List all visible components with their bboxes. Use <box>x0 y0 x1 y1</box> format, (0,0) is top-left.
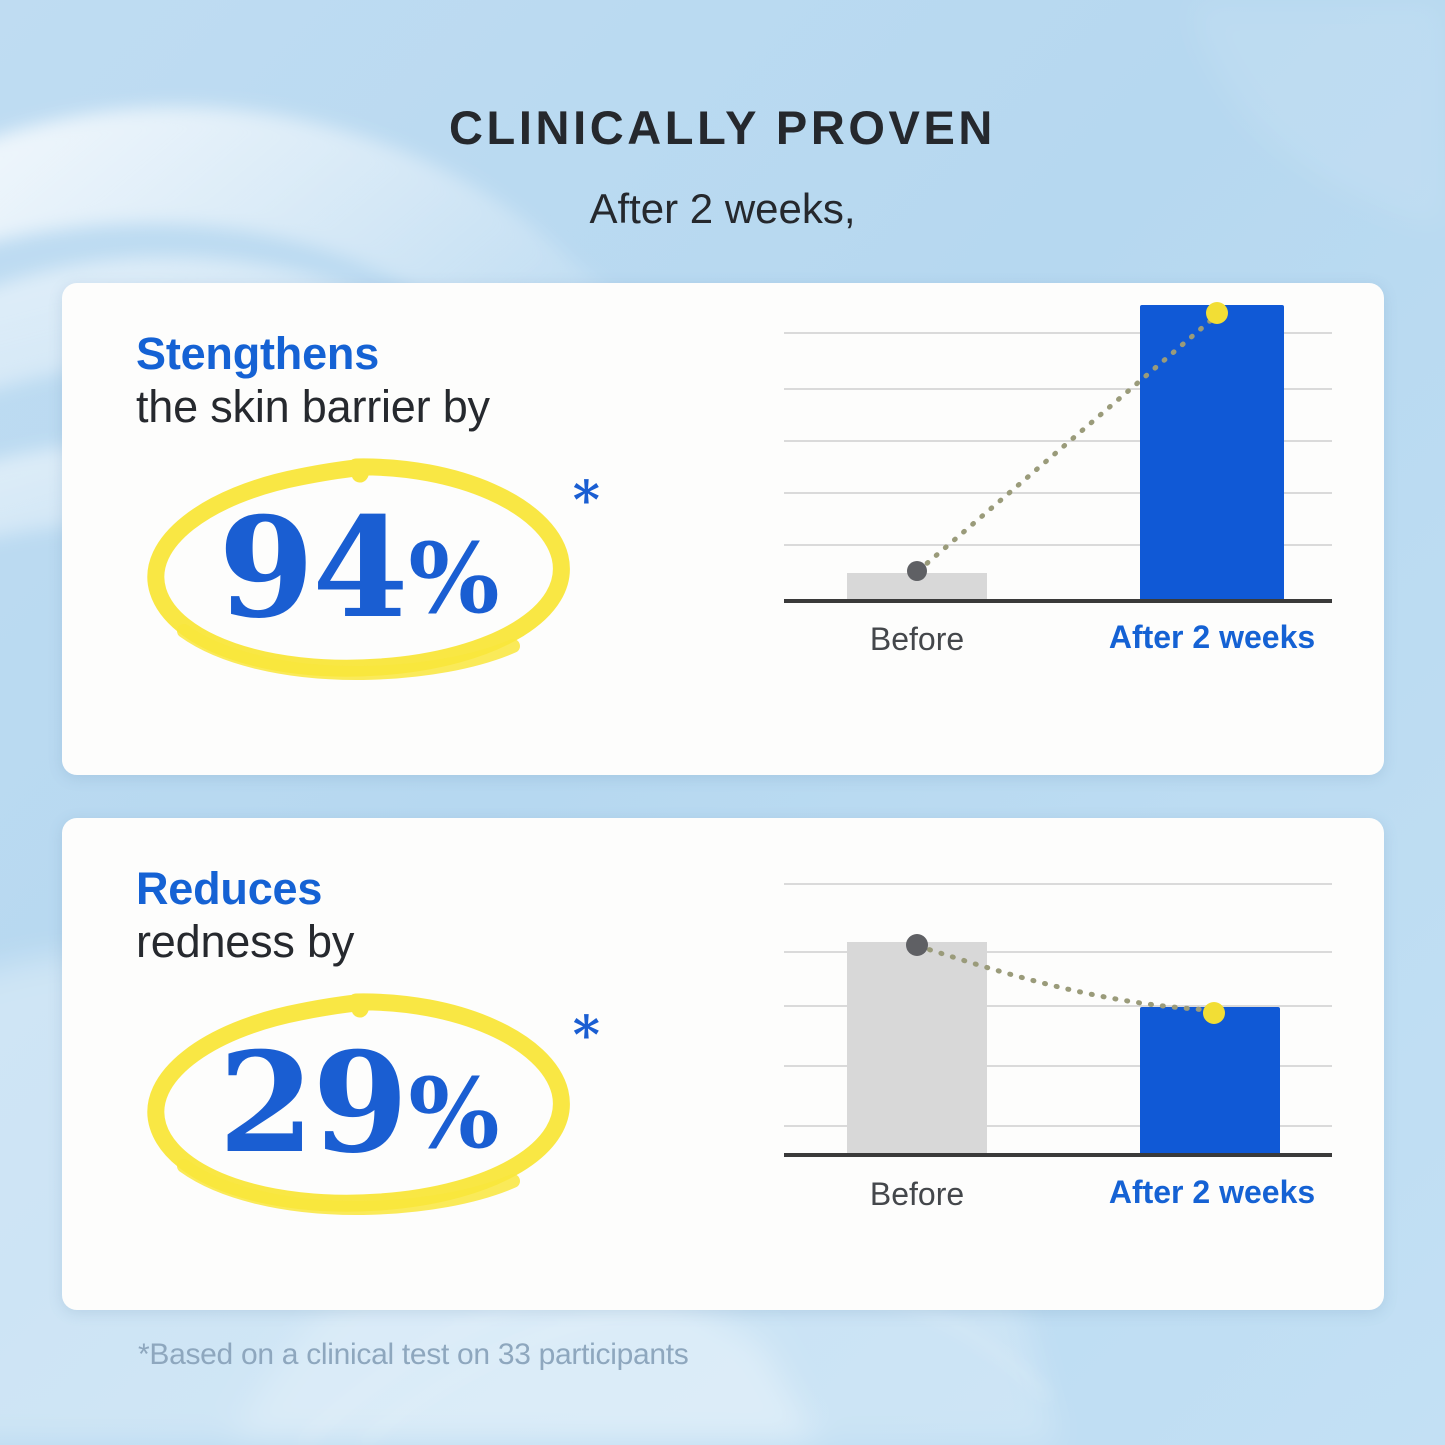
chart-redness: Before After 2 weeks <box>712 836 1332 1286</box>
axis-label-after: After 2 weeks <box>1092 619 1332 656</box>
stat-card-skin-barrier: Stengthens the skin barrier by 94 % * <box>62 283 1384 775</box>
card-headline-highlight: Stengthens <box>136 327 676 380</box>
percent-value: 29 % <box>124 978 594 1228</box>
percent-highlight-block: 29 % * <box>124 978 594 1228</box>
stat-card-redness: Reduces redness by 29 % * <box>62 818 1384 1310</box>
asterisk-marker: * <box>573 475 600 527</box>
page-title: CLINICALLY PROVEN <box>0 100 1445 155</box>
percent-highlight-block: 94 % * <box>124 443 594 693</box>
percent-symbol: % <box>408 1066 499 1162</box>
axis-label-before: Before <box>817 621 1017 658</box>
chart-skin-barrier: Before After 2 weeks <box>712 301 1332 751</box>
percent-symbol: % <box>408 531 499 627</box>
chart-axis-labels: Before After 2 weeks <box>712 301 1332 751</box>
axis-label-after: After 2 weeks <box>1092 1174 1332 1211</box>
asterisk-marker: * <box>573 1010 600 1062</box>
page-subtitle: After 2 weeks, <box>0 185 1445 233</box>
footnote-text: *Based on a clinical test on 33 particip… <box>138 1338 688 1372</box>
percent-number: 94 <box>218 499 406 637</box>
axis-label-before: Before <box>817 1176 1017 1213</box>
card-headline-rest: redness by <box>136 915 676 970</box>
card-headline-block: Stengthens the skin barrier by <box>136 327 676 435</box>
percent-value: 94 % <box>124 443 594 693</box>
percent-number: 29 <box>218 1034 406 1172</box>
chart-axis-labels: Before After 2 weeks <box>712 836 1332 1286</box>
card-headline-highlight: Reduces <box>136 862 676 915</box>
card-headline-rest: the skin barrier by <box>136 380 676 435</box>
card-headline-block: Reduces redness by <box>136 862 676 970</box>
